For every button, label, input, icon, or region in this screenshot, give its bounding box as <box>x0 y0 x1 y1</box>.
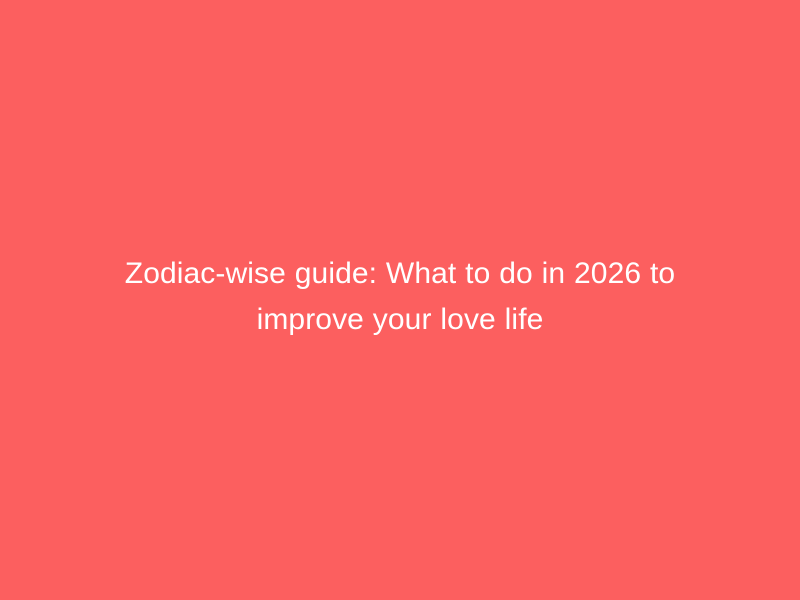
page-title: Zodiac-wise guide: What to do in 2026 to… <box>80 251 720 343</box>
page-canvas: Zodiac-wise guide: What to do in 2026 to… <box>0 0 800 600</box>
headline-block: Zodiac-wise guide: What to do in 2026 to… <box>80 251 720 343</box>
